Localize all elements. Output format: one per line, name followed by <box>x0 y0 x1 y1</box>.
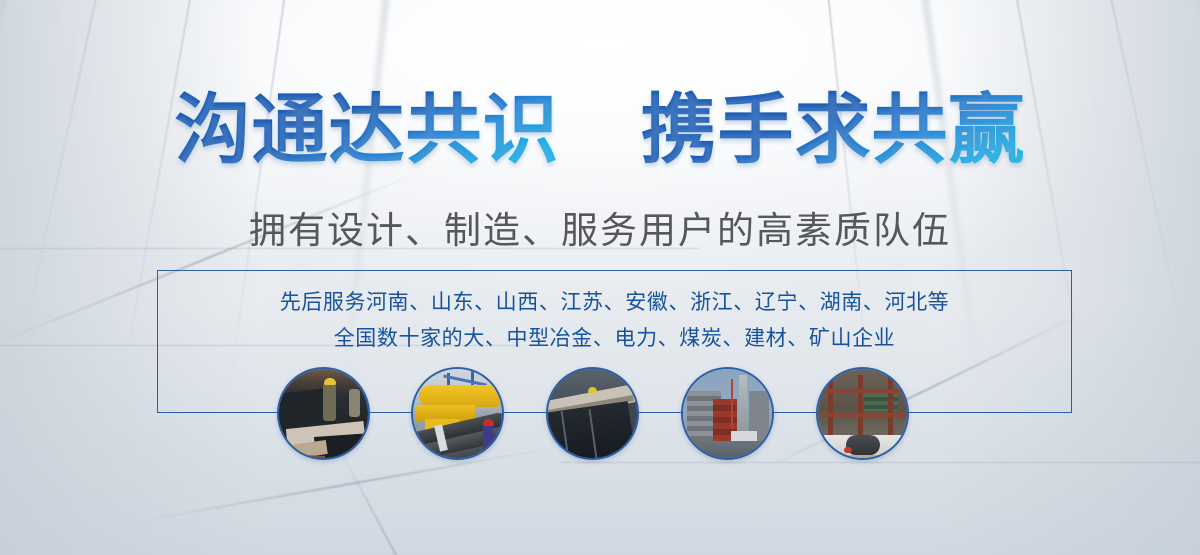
promo-banner: 沟通达共识 携手求共赢 拥有设计、制造、服务用户的高素质队伍 先后服务河南、山东… <box>0 0 1200 555</box>
photo-industrial-plant-chimney <box>681 367 774 460</box>
subtitle: 拥有设计、制造、服务用户的高素质队伍 <box>0 200 1200 254</box>
info-box-line-2: 全国数十家的大、中型冶金、电力、煤炭、建材、矿山企业 <box>157 320 1072 356</box>
background-seam-3 <box>560 462 1200 463</box>
info-box-line-1: 先后服务河南、山东、山西、江苏、安徽、浙江、辽宁、湖南、河北等 <box>157 284 1072 320</box>
photo-workshop-steel-frame <box>816 367 909 460</box>
headline-part-2: 携手求共赢 <box>640 85 1025 174</box>
photo-yellow-machinery-pipes <box>411 367 504 460</box>
headline-part-1: 沟通达共识 <box>175 85 560 174</box>
headline: 沟通达共识 携手求共赢 <box>0 92 1200 168</box>
photo-workers-lining-installation <box>277 367 370 460</box>
photo-steel-hopper-duct <box>546 367 639 460</box>
info-box-text: 先后服务河南、山东、山西、江苏、安徽、浙江、辽宁、湖南、河北等 全国数十家的大、… <box>157 284 1072 356</box>
